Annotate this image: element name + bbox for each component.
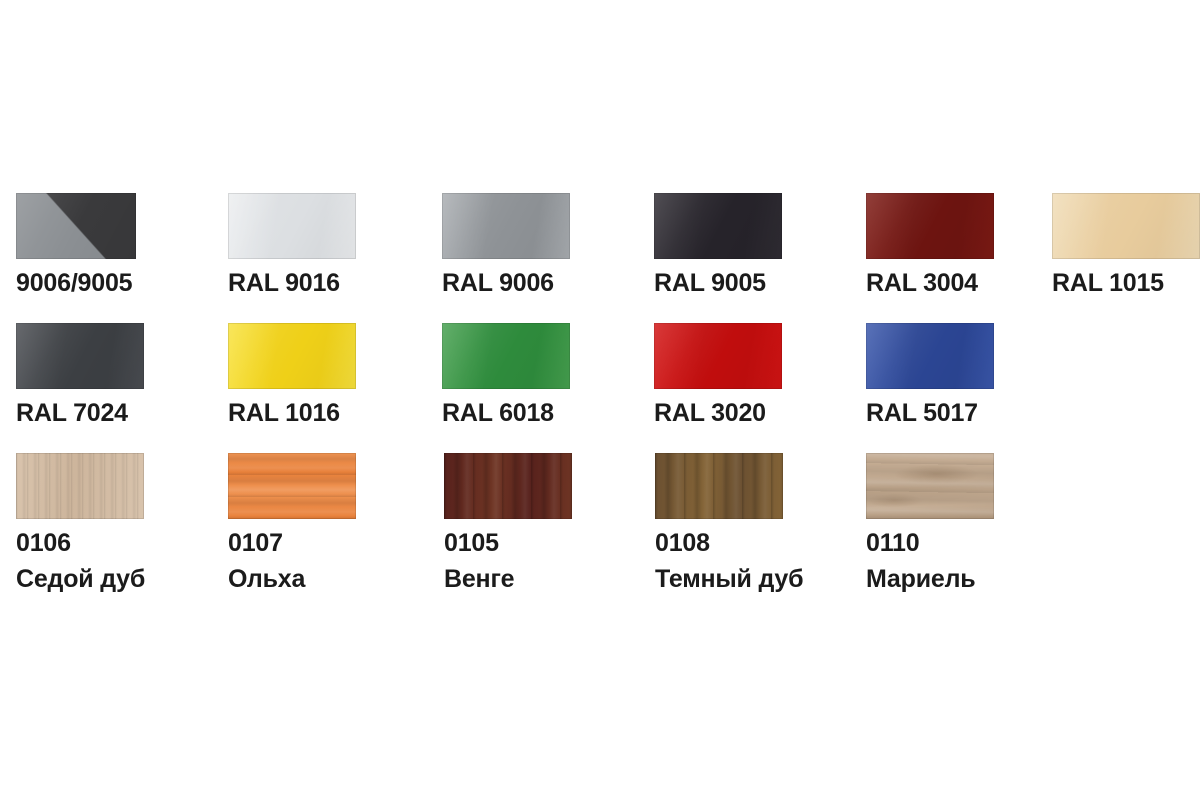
- gloss-highlight: [442, 323, 570, 389]
- swatch-sublabel-0107: Ольха: [228, 567, 356, 592]
- swatch-0106[interactable]: 0106Седой дуб: [16, 453, 145, 592]
- color-chip-9006-9005[interactable]: [16, 193, 136, 259]
- gloss-highlight: [866, 323, 994, 389]
- swatch-9006-9005[interactable]: 9006/9005: [16, 193, 136, 296]
- gloss-highlight: [866, 193, 994, 259]
- swatch-label-0107: 0107: [228, 531, 356, 556]
- swatch-0110[interactable]: 0110Мариель: [866, 453, 994, 592]
- swatch-label-ral-9006: RAL 9006: [442, 271, 570, 296]
- swatch-sublabel-0105: Венге: [444, 567, 572, 592]
- swatch-0105[interactable]: 0105Венге: [444, 453, 572, 592]
- color-chip-ral-5017[interactable]: [866, 323, 994, 389]
- swatch-ral-9005[interactable]: RAL 9005: [654, 193, 782, 296]
- color-chip-ral-9016[interactable]: [228, 193, 356, 259]
- swatch-label-ral-1015: RAL 1015: [1052, 271, 1200, 296]
- swatch-ral-3020[interactable]: RAL 3020: [654, 323, 782, 426]
- swatch-ral-3004[interactable]: RAL 3004: [866, 193, 994, 296]
- swatch-ral-9016[interactable]: RAL 9016: [228, 193, 356, 296]
- color-palette-board: 9006/9005RAL 9016RAL 9006RAL 9005RAL 300…: [0, 0, 1200, 800]
- color-chip-ral-3020[interactable]: [654, 323, 782, 389]
- swatch-sublabel-0106: Седой дуб: [16, 567, 145, 592]
- swatch-label-ral-9005: RAL 9005: [654, 271, 782, 296]
- swatch-ral-7024[interactable]: RAL 7024: [16, 323, 144, 426]
- gloss-highlight: [654, 323, 782, 389]
- swatch-ral-1015[interactable]: RAL 1015: [1052, 193, 1200, 296]
- wood-grain-texture: [16, 453, 144, 519]
- color-chip-ral-9006[interactable]: [442, 193, 570, 259]
- color-chip-ral-7024[interactable]: [16, 323, 144, 389]
- wood-grain-texture: [866, 453, 994, 519]
- swatch-label-ral-9016: RAL 9016: [228, 271, 356, 296]
- gloss-highlight: [16, 323, 144, 389]
- wood-grain-texture: [655, 453, 783, 519]
- color-chip-0107[interactable]: [228, 453, 356, 519]
- swatch-label-ral-3004: RAL 3004: [866, 271, 994, 296]
- swatch-0107[interactable]: 0107Ольха: [228, 453, 356, 592]
- color-chip-ral-9005[interactable]: [654, 193, 782, 259]
- swatch-label-ral-1016: RAL 1016: [228, 401, 356, 426]
- swatch-ral-6018[interactable]: RAL 6018: [442, 323, 570, 426]
- color-chip-ral-3004[interactable]: [866, 193, 994, 259]
- color-chip-ral-6018[interactable]: [442, 323, 570, 389]
- swatch-ral-5017[interactable]: RAL 5017: [866, 323, 994, 426]
- swatch-label-0110: 0110: [866, 531, 994, 556]
- color-chip-0106[interactable]: [16, 453, 144, 519]
- swatch-ral-9006[interactable]: RAL 9006: [442, 193, 570, 296]
- color-chip-ral-1015[interactable]: [1052, 193, 1200, 259]
- swatch-label-0108: 0108: [655, 531, 803, 556]
- swatch-0108[interactable]: 0108Темный дуб: [655, 453, 803, 592]
- swatch-label-0105: 0105: [444, 531, 572, 556]
- color-chip-0108[interactable]: [655, 453, 783, 519]
- color-chip-0110[interactable]: [866, 453, 994, 519]
- swatch-label-ral-6018: RAL 6018: [442, 401, 570, 426]
- gloss-highlight: [442, 193, 570, 259]
- wood-grain-texture: [228, 453, 356, 519]
- color-chip-0105[interactable]: [444, 453, 572, 519]
- swatch-label-ral-7024: RAL 7024: [16, 401, 144, 426]
- swatch-label-9006-9005: 9006/9005: [16, 271, 136, 296]
- swatch-label-0106: 0106: [16, 531, 145, 556]
- swatch-ral-1016[interactable]: RAL 1016: [228, 323, 356, 426]
- gloss-highlight: [228, 193, 356, 259]
- gloss-highlight: [228, 323, 356, 389]
- swatch-label-ral-3020: RAL 3020: [654, 401, 782, 426]
- color-chip-ral-1016[interactable]: [228, 323, 356, 389]
- gloss-highlight: [654, 193, 782, 259]
- wood-grain-texture: [444, 453, 572, 519]
- swatch-sublabel-0110: Мариель: [866, 567, 994, 592]
- swatch-sublabel-0108: Темный дуб: [655, 567, 803, 592]
- gloss-highlight: [16, 193, 136, 259]
- swatch-label-ral-5017: RAL 5017: [866, 401, 994, 426]
- gloss-highlight: [1052, 193, 1200, 259]
